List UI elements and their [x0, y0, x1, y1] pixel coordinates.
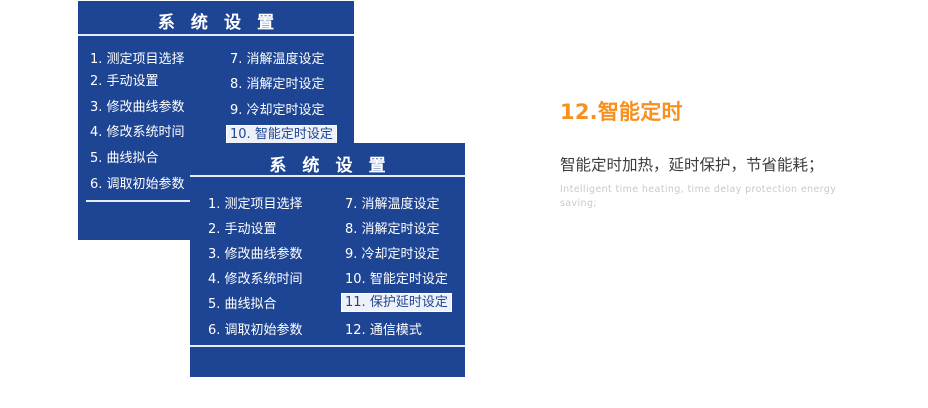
menu-item-2[interactable]: 2. 手动设置	[90, 75, 159, 88]
screen-1-title: 系 统 设 置	[78, 8, 354, 33]
menu-item-number: 7.	[345, 198, 357, 211]
menu-item-number: 2.	[208, 223, 220, 236]
menu-item-4[interactable]: 4. 修改系统时间	[208, 273, 303, 286]
menu-item-label: 修改曲线参数	[225, 247, 303, 262]
menu-item-number: 5.	[208, 298, 220, 311]
menu-item-number: 12.	[345, 324, 366, 337]
menu-item-7[interactable]: 7. 消解温度设定	[230, 53, 325, 66]
menu-item-number: 10.	[230, 128, 251, 141]
menu-item-9[interactable]: 9. 冷却定时设定	[230, 104, 325, 117]
feature-heading: 12.智能定时	[560, 100, 870, 125]
menu-item-label: 消解定时设定	[362, 222, 440, 237]
menu-item-label: 消解定时设定	[247, 77, 325, 92]
menu-item-label: 消解温度设定	[247, 52, 325, 67]
menu-item-number: 9.	[345, 248, 357, 261]
menu-item-number: 5.	[90, 152, 102, 165]
menu-item-12[interactable]: 12. 通信模式	[345, 324, 422, 337]
menu-item-2[interactable]: 2. 手动设置	[208, 223, 277, 236]
menu-item-label: 冷却定时设定	[362, 247, 440, 262]
menu-item-label: 测定项目选择	[107, 52, 185, 67]
menu-item-8[interactable]: 8. 消解定时设定	[230, 78, 325, 91]
menu-item-number: 4.	[90, 126, 102, 139]
menu-item-label: 修改系统时间	[107, 125, 185, 140]
screen-1-title-divider	[78, 34, 354, 36]
menu-item-5[interactable]: 5. 曲线拟合	[90, 152, 159, 165]
menu-item-label: 手动设置	[107, 74, 159, 89]
menu-item-number: 11.	[345, 296, 366, 309]
menu-item-number: 6.	[208, 324, 220, 337]
menu-item-number: 3.	[208, 248, 220, 261]
menu-item-number: 4.	[208, 273, 220, 286]
menu-item-label: 调取初始参数	[107, 177, 185, 192]
menu-item-label: 消解温度设定	[362, 197, 440, 212]
screen-2-title: 系 统 设 置	[190, 151, 465, 176]
menu-item-3[interactable]: 3. 修改曲线参数	[208, 248, 303, 261]
screen-2-title-divider	[190, 175, 465, 177]
menu-item-number: 1.	[90, 53, 102, 66]
menu-item-4[interactable]: 4. 修改系统时间	[90, 126, 185, 139]
menu-item-number: 9.	[230, 104, 242, 117]
settings-screen-panel-2: 系 统 设 置 1. 测定项目选择 2. 手动设置 3. 修改曲线参数 4. 修…	[190, 143, 465, 377]
menu-item-5[interactable]: 5. 曲线拟合	[208, 298, 277, 311]
feature-body-chinese: 智能定时加热，延时保护，节省能耗；	[560, 153, 855, 177]
feature-description: 12.智能定时 智能定时加热，延时保护，节省能耗； Intelligent ti…	[560, 100, 870, 211]
menu-item-8[interactable]: 8. 消解定时设定	[345, 223, 440, 236]
menu-item-number: 2.	[90, 75, 102, 88]
feature-body-english: Intelligent time heating, time delay pro…	[560, 183, 840, 211]
menu-item-6[interactable]: 6. 调取初始参数	[208, 324, 303, 337]
menu-item-3[interactable]: 3. 修改曲线参数	[90, 101, 185, 114]
menu-item-10[interactable]: 10. 智能定时设定	[345, 273, 448, 286]
menu-item-number: 7.	[230, 53, 242, 66]
menu-item-10-selected[interactable]: 10. 智能定时设定	[227, 126, 336, 143]
menu-item-label: 手动设置	[225, 222, 277, 237]
menu-item-label: 调取初始参数	[225, 323, 303, 338]
menu-item-number: 1.	[208, 198, 220, 211]
menu-item-label: 冷却定时设定	[247, 103, 325, 118]
menu-item-label: 曲线拟合	[225, 297, 277, 312]
menu-item-7[interactable]: 7. 消解温度设定	[345, 198, 440, 211]
screen-2-bottom-divider	[190, 345, 465, 347]
menu-item-label: 智能定时设定	[255, 127, 333, 142]
menu-item-number: 6.	[90, 178, 102, 191]
menu-item-number: 8.	[345, 223, 357, 236]
menu-item-label: 修改系统时间	[225, 272, 303, 287]
menu-item-6[interactable]: 6. 调取初始参数	[90, 178, 185, 191]
menu-item-11-selected[interactable]: 11. 保护延时设定	[342, 294, 451, 311]
menu-item-9[interactable]: 9. 冷却定时设定	[345, 248, 440, 261]
menu-item-label: 修改曲线参数	[107, 100, 185, 115]
menu-item-number: 8.	[230, 78, 242, 91]
menu-item-label: 通信模式	[370, 323, 422, 338]
menu-item-label: 测定项目选择	[225, 197, 303, 212]
menu-item-1[interactable]: 1. 测定项目选择	[208, 198, 303, 211]
menu-item-label: 保护延时设定	[370, 295, 448, 310]
menu-item-label: 智能定时设定	[370, 272, 448, 287]
menu-item-number: 10.	[345, 273, 366, 286]
menu-item-1[interactable]: 1. 测定项目选择	[90, 53, 185, 66]
menu-item-label: 曲线拟合	[107, 151, 159, 166]
menu-item-number: 3.	[90, 101, 102, 114]
